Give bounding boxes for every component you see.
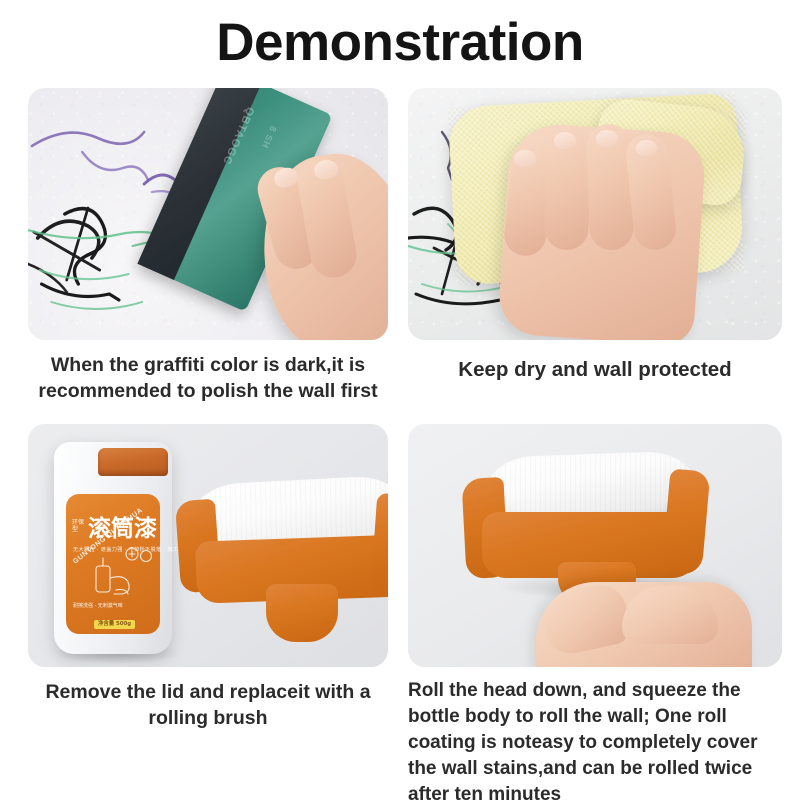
demonstration-page: Demonstration xyxy=(0,0,800,800)
fingernail-1 xyxy=(514,150,536,167)
panel-1-caption: When the graffiti color is dark,it is re… xyxy=(28,353,388,404)
panel-2-caption: Keep dry and wall protected xyxy=(408,356,782,383)
panel-4-caption: Roll the head down, and squeeze the bott… xyxy=(408,678,782,807)
sanding-block-text-2: 8 SH xyxy=(260,124,279,150)
panel-3-photo: 环保型 滚筒漆 无大颗粒 · 遮盖力强 · 不掉粉不脱落 · 施工方便 GUNT… xyxy=(28,424,388,667)
roller-stem xyxy=(266,584,338,642)
panel-4-photo xyxy=(408,424,782,667)
panel-2-photo xyxy=(408,88,782,340)
demo-cell-4: Roll the head down, and squeeze the bott… xyxy=(400,424,800,807)
demo-cell-3: 环保型 滚筒漆 无大颗粒 · 遮盖力强 · 不掉粉不脱落 · 施工方便 GUNT… xyxy=(0,424,400,807)
demo-row-2: 环保型 滚筒漆 无大颗粒 · 遮盖力强 · 不掉粉不脱落 · 施工方便 GUNT… xyxy=(0,424,800,807)
paint-bottle: 环保型 滚筒漆 无大颗粒 · 遮盖力强 · 不掉粉不脱落 · 施工方便 GUNT… xyxy=(54,442,172,654)
demo-cell-2: Keep dry and wall protected xyxy=(400,88,800,404)
weight-badge: 净含量 500g xyxy=(94,620,135,629)
panel-3-caption: Remove the lid and replaceit with a roll… xyxy=(28,680,388,731)
demo-cell-1: QBTAOGC 8 SH When the graffiti color is … xyxy=(0,88,400,404)
fingernail-4 xyxy=(636,140,657,156)
fingernail-3 xyxy=(596,130,618,147)
bottle-cap xyxy=(98,448,168,476)
demo-row-1: QBTAOGC 8 SH When the graffiti color is … xyxy=(0,88,800,404)
roller-brush-head xyxy=(178,476,388,646)
bottle-label: 环保型 滚筒漆 无大颗粒 · 遮盖力强 · 不掉粉不脱落 · 施工方便 GUNT… xyxy=(66,494,160,634)
page-title: Demonstration xyxy=(0,0,800,69)
label-footer-text: 耐擦洗强 · 无刺激气味 xyxy=(73,602,123,609)
roller-frame-right-arm xyxy=(662,469,711,576)
finger-knuckle xyxy=(622,586,718,644)
panel-1-photo: QBTAOGC 8 SH xyxy=(28,88,388,340)
demo-grid: QBTAOGC 8 SH When the graffiti color is … xyxy=(0,88,800,808)
fingernail-2 xyxy=(554,132,576,149)
label-illustration xyxy=(66,494,160,634)
